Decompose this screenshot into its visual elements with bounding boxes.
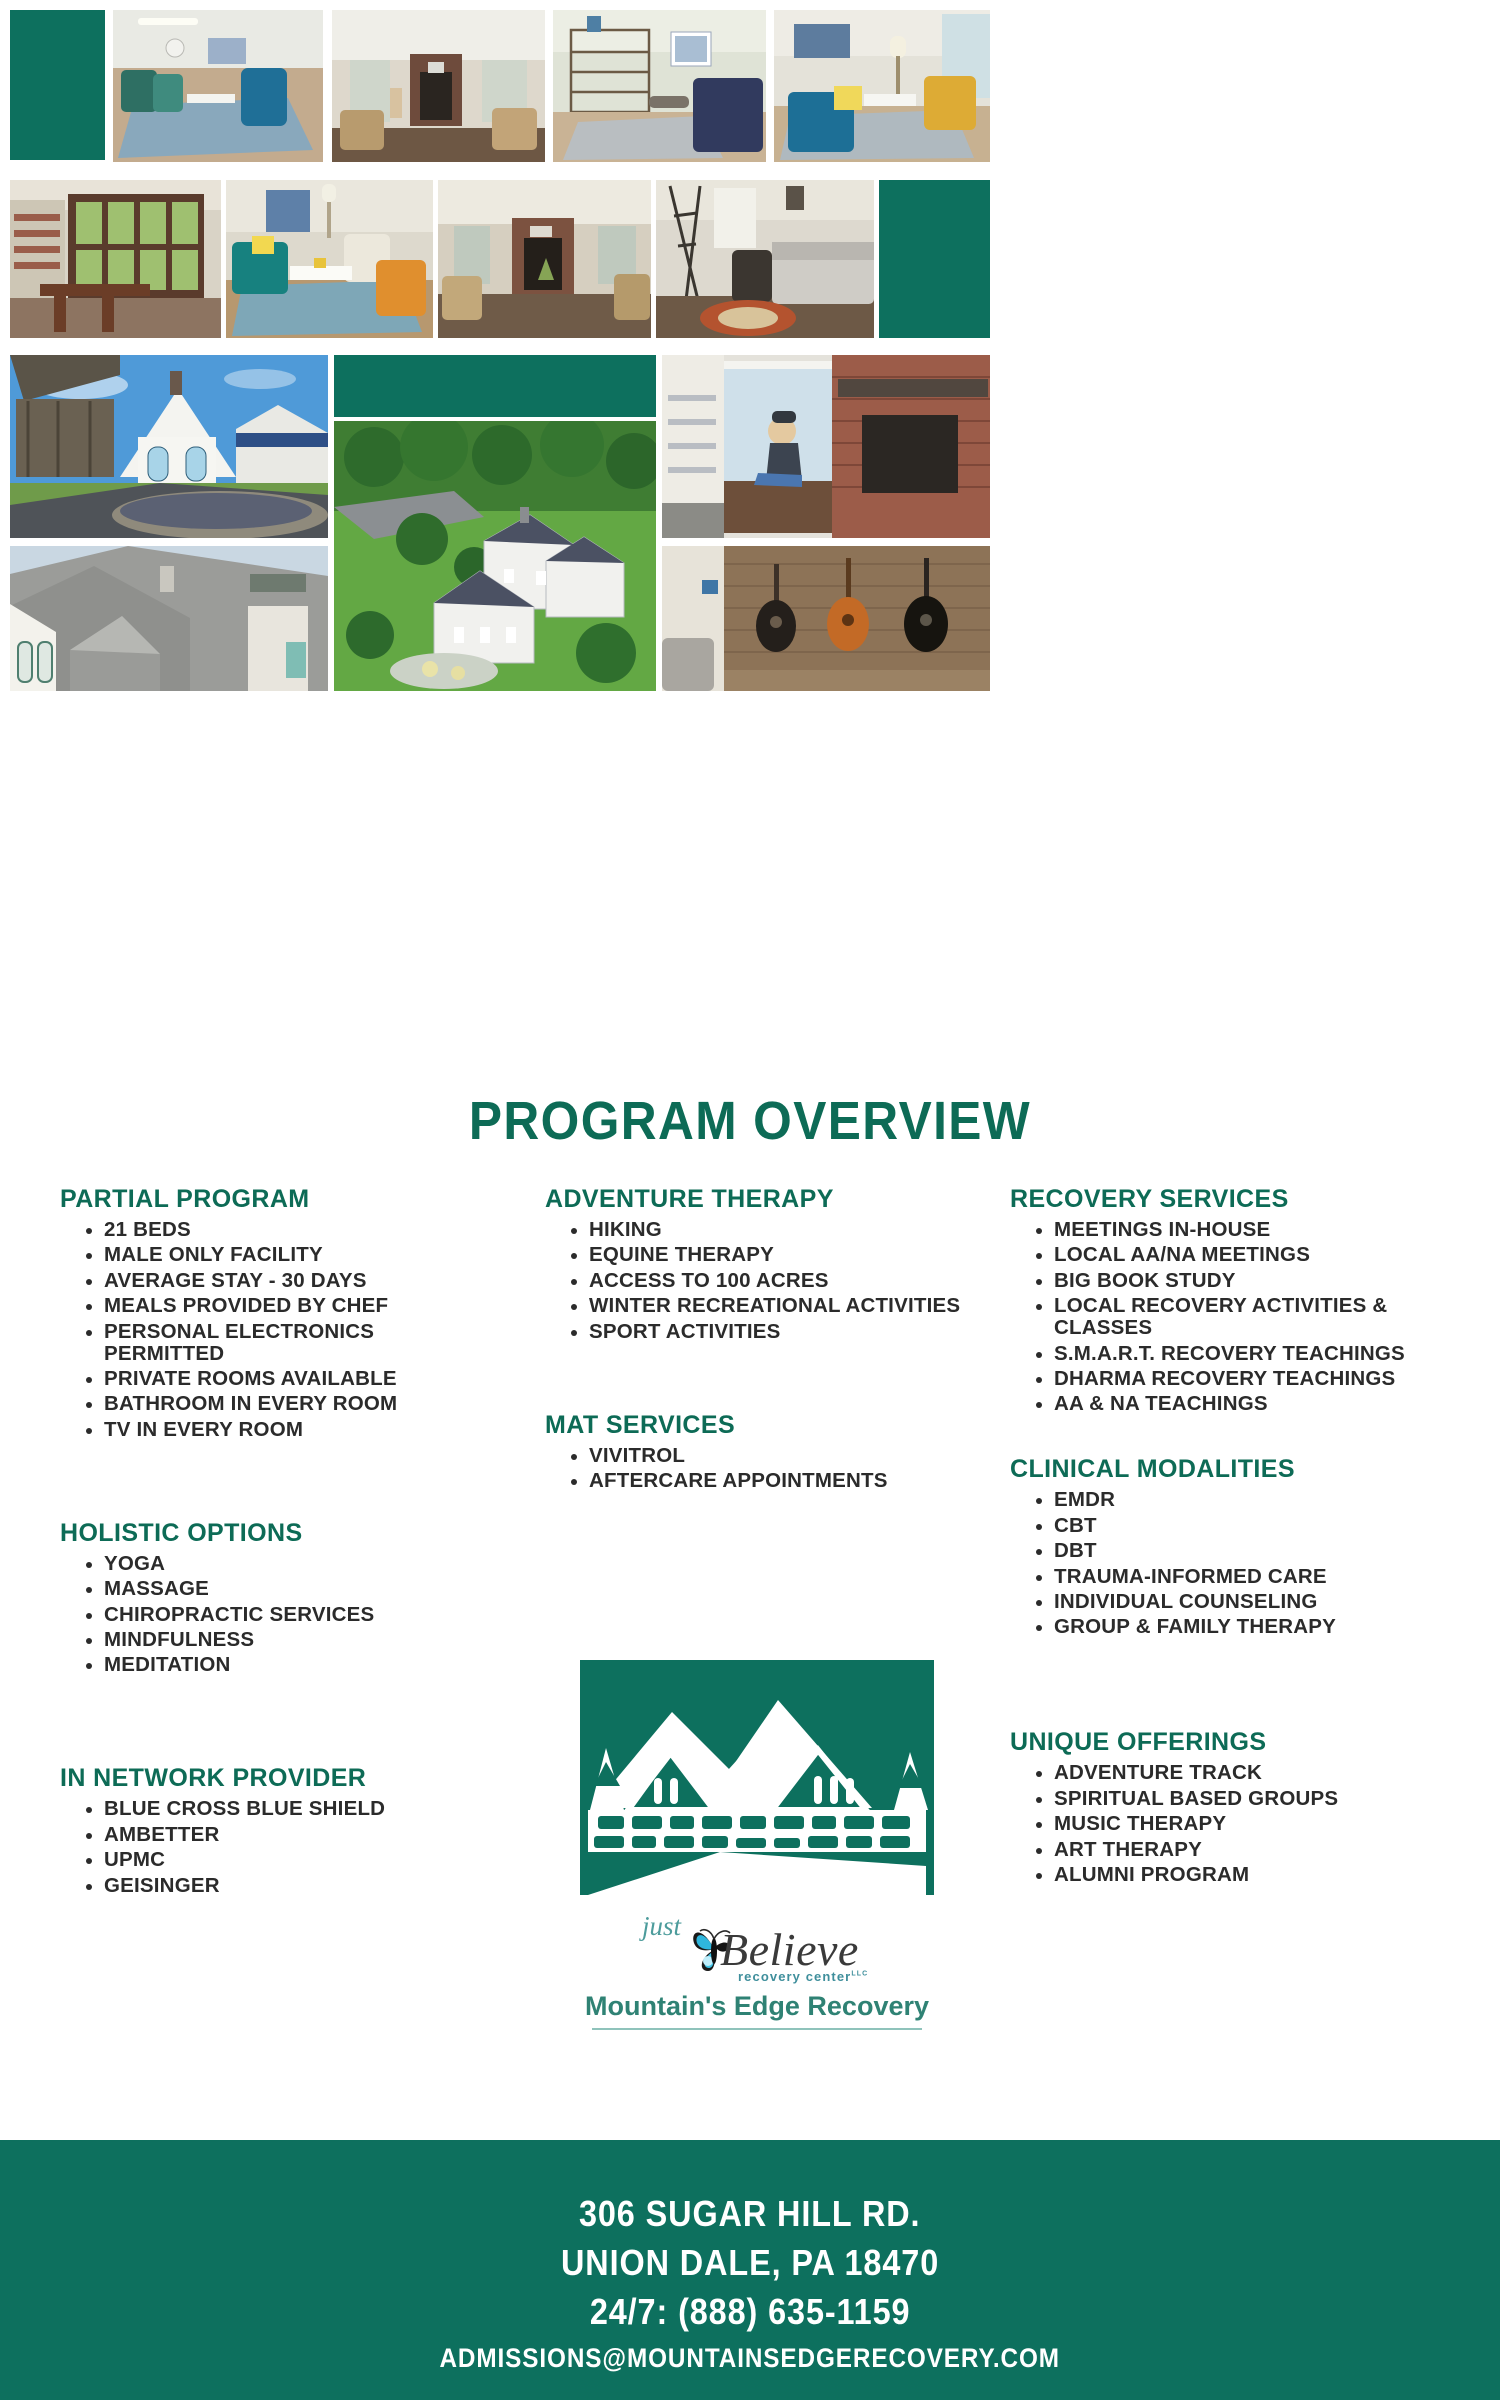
company-logo: just Believe recovery centerLLC Mountain… [562,1660,952,2030]
photo-library-fireplace-seating [332,10,545,162]
list-item: BATHROOM IN EVERY ROOM [86,1393,480,1415]
accent-block-row2-right [879,180,990,338]
list-item: ADVENTURE TRACK [1036,1762,1450,1784]
list-item: GEISINGER [86,1875,480,1897]
list-item: UPMC [86,1849,480,1871]
photo-exterior-roofline [10,546,328,691]
section-list: EMDR CBT DBT TRAUMA-INFORMED CARE INDIVI… [1010,1489,1450,1638]
just-believe-wordmark: just Believe recovery centerLLC [580,1889,934,1985]
section-clinical-modalities: CLINICAL MODALITIES EMDR CBT DBT TRAUMA-… [1010,1455,1450,1638]
page-title-wrap: PROGRAM OVERVIEW [0,1090,1500,1152]
address-line-1: 306 SUGAR HILL RD. [579,2193,920,2235]
list-item: MALE ONLY FACILITY [86,1244,480,1266]
list-item: MEALS PROVIDED BY CHEF [86,1295,480,1317]
section-heading: MAT SERVICES [545,1411,965,1440]
list-item: S.M.A.R.T. RECOVERY TEACHINGS [1036,1343,1450,1365]
column-left: PARTIAL PROGRAM 21 BEDS MALE ONLY FACILI… [60,1185,480,1903]
list-item: TRAUMA-INFORMED CARE [1036,1566,1450,1588]
photo-window-seat-brick-fireplace [662,355,990,538]
photo-dining-room-french-doors [10,180,221,338]
list-item: YOGA [86,1553,480,1575]
section-partial-program: PARTIAL PROGRAM 21 BEDS MALE ONLY FACILI… [60,1185,480,1441]
column-right: RECOVERY SERVICES MEETINGS IN-HOUSE LOCA… [1010,1185,1450,1892]
logo-just-text: just [642,1911,681,1942]
mountain-logo-icon [580,1660,934,1895]
contact-footer: 306 SUGAR HILL RD. UNION DALE, PA 18470 … [0,2140,1500,2400]
logo-divider [592,2028,922,2030]
photo-sitting-room-yellow-chair [774,10,990,162]
brochure-page: PROGRAM OVERVIEW PARTIAL PROGRAM 21 BEDS… [0,0,1500,2400]
section-heading: IN NETWORK PROVIDER [60,1764,480,1793]
accent-block-top-left [10,10,105,160]
list-item: PRIVATE ROOMS AVAILABLE [86,1368,480,1390]
accent-block-row3-middle [334,355,656,417]
list-item: AVERAGE STAY - 30 DAYS [86,1270,480,1292]
section-list: YOGA MASSAGE CHIROPRACTIC SERVICES MINDF… [60,1553,480,1677]
photo-music-room-guitars [662,546,990,691]
section-recovery-services: RECOVERY SERVICES MEETINGS IN-HOUSE LOCA… [1010,1185,1450,1415]
list-item: TV IN EVERY ROOM [86,1419,480,1441]
list-item: MEDITATION [86,1654,480,1676]
list-item: EMDR [1036,1489,1450,1511]
list-item: CHIROPRACTIC SERVICES [86,1604,480,1626]
list-item: SPORT ACTIVITIES [571,1321,965,1343]
section-heading: CLINICAL MODALITIES [1010,1455,1450,1484]
list-item: DBT [1036,1540,1450,1562]
list-item: INDIVIDUAL COUNSELING [1036,1591,1450,1613]
section-heading: PARTIAL PROGRAM [60,1185,480,1214]
list-item: MASSAGE [86,1578,480,1600]
address-line-2: UNION DALE, PA 18470 [561,2242,939,2284]
section-holistic-options: HOLISTIC OPTIONS YOGA MASSAGE CHIROPRACT… [60,1519,480,1677]
facility-name: Mountain's Edge Recovery [562,1991,952,2022]
photo-bedroom-with-rug [656,180,874,338]
list-item: PERSONAL ELECTRONICS PERMITTED [86,1321,480,1365]
list-item: AMBETTER [86,1824,480,1846]
list-item: GROUP & FAMILY THERAPY [1036,1616,1450,1638]
list-item: LOCAL RECOVERY ACTIVITIES & CLASSES [1036,1295,1450,1339]
photo-aerial-view-of-campus [334,421,656,691]
list-item: CBT [1036,1515,1450,1537]
list-item: ART THERAPY [1036,1839,1450,1861]
list-item: MUSIC THERAPY [1036,1813,1450,1835]
section-list: 21 BEDS MALE ONLY FACILITY AVERAGE STAY … [60,1219,480,1441]
photo-common-room-teal-orange-chairs [226,180,433,338]
section-list: MEETINGS IN-HOUSE LOCAL AA/NA MEETINGS B… [1010,1219,1450,1415]
list-item: SPIRITUAL BASED GROUPS [1036,1788,1450,1810]
section-list: VIVITROL AFTERCARE APPOINTMENTS [545,1445,965,1492]
section-adventure-therapy: ADVENTURE THERAPY HIKING EQUINE THERAPY … [545,1185,965,1343]
list-item: ALUMNI PROGRAM [1036,1864,1450,1886]
section-heading: HOLISTIC OPTIONS [60,1519,480,1548]
section-unique-offerings: UNIQUE OFFERINGS ADVENTURE TRACK SPIRITU… [1010,1728,1450,1886]
list-item: EQUINE THERAPY [571,1244,965,1266]
photo-collage [0,0,1500,1075]
section-mat-services: MAT SERVICES VIVITROL AFTERCARE APPOINTM… [545,1411,965,1492]
logo-recovery-center-text: recovery centerLLC [738,1969,868,1984]
list-item: AA & NA TEACHINGS [1036,1393,1450,1415]
photo-lounge-shelving-navy-sofa [553,10,766,162]
section-list: ADVENTURE TRACK SPIRITUAL BASED GROUPS M… [1010,1762,1450,1886]
list-item: LOCAL AA/NA MEETINGS [1036,1244,1450,1266]
phone-number[interactable]: 24/7: (888) 635-1159 [590,2291,911,2333]
photo-library-fireplace-wide [438,180,651,338]
photo-living-room-teal-chairs [113,10,323,162]
list-item: MINDFULNESS [86,1629,480,1651]
list-item: HIKING [571,1219,965,1241]
section-heading: UNIQUE OFFERINGS [1010,1728,1450,1757]
list-item: AFTERCARE APPOINTMENTS [571,1470,965,1492]
photo-exterior-driveway-pavilion [10,355,328,538]
list-item: ACCESS TO 100 ACRES [571,1270,965,1292]
section-heading: ADVENTURE THERAPY [545,1185,965,1214]
section-list: BLUE CROSS BLUE SHIELD AMBETTER UPMC GEI… [60,1798,480,1896]
list-item: VIVITROL [571,1445,965,1467]
list-item: BLUE CROSS BLUE SHIELD [86,1798,480,1820]
list-item: BIG BOOK STUDY [1036,1270,1450,1292]
list-item: DHARMA RECOVERY TEACHINGS [1036,1368,1450,1390]
column-middle: ADVENTURE THERAPY HIKING EQUINE THERAPY … [545,1185,965,1498]
section-in-network-provider: IN NETWORK PROVIDER BLUE CROSS BLUE SHIE… [60,1764,480,1896]
page-title: PROGRAM OVERVIEW [60,1090,1440,1152]
section-list: HIKING EQUINE THERAPY ACCESS TO 100 ACRE… [545,1219,965,1343]
email-address[interactable]: ADMISSIONS@MOUNTAINSEDGERECOVERY.COM [440,2343,1060,2374]
list-item: 21 BEDS [86,1219,480,1241]
list-item: WINTER RECREATIONAL ACTIVITIES [571,1295,965,1317]
list-item: MEETINGS IN-HOUSE [1036,1219,1450,1241]
section-heading: RECOVERY SERVICES [1010,1185,1450,1214]
